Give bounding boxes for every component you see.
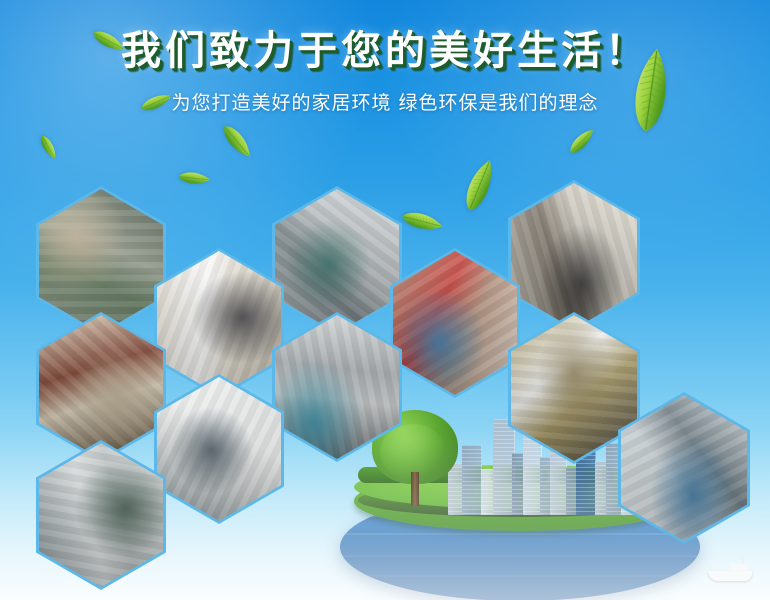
hexagon-photo [39,443,163,587]
page-title: 我们致力于您的美好生活！ [121,28,649,74]
hexagon-photo [393,251,517,395]
leaf-top-center-icon [457,154,501,220]
hexagon-photo [157,377,281,521]
hexagon-photo [157,251,281,395]
hex-handrail-painting[interactable] [36,312,166,462]
boat-icon [708,557,754,583]
leaf-center-left-icon [216,118,257,162]
skyline-building [462,445,482,515]
leaf-mid-center-icon [396,207,445,235]
leaf-lower-left-icon [174,170,211,187]
headline-block: 我们致力于您的美好生活！ 为您打造美好的家居环境 绿色环保是我们的理念 [0,28,770,115]
hexagon-photo [39,315,163,459]
hexagon-photo [39,189,163,333]
leaf-right-small-icon [563,125,598,161]
hexagon-photo [275,189,399,333]
hex-building-descend[interactable] [36,440,166,590]
leaf-far-left-icon [35,129,60,161]
hex-hood-degrease[interactable] [508,180,640,332]
hex-chandelier-clean[interactable] [154,374,284,524]
hex-carpet-machine[interactable] [390,248,520,398]
page-subtitle: 为您打造美好的家居环境 绿色环保是我们的理念 [0,88,770,115]
hexagon-photo [511,183,637,329]
promo-banner: 我们致力于您的美好生活！ 为您打造美好的家居环境 绿色环保是我们的理念 [0,0,770,600]
